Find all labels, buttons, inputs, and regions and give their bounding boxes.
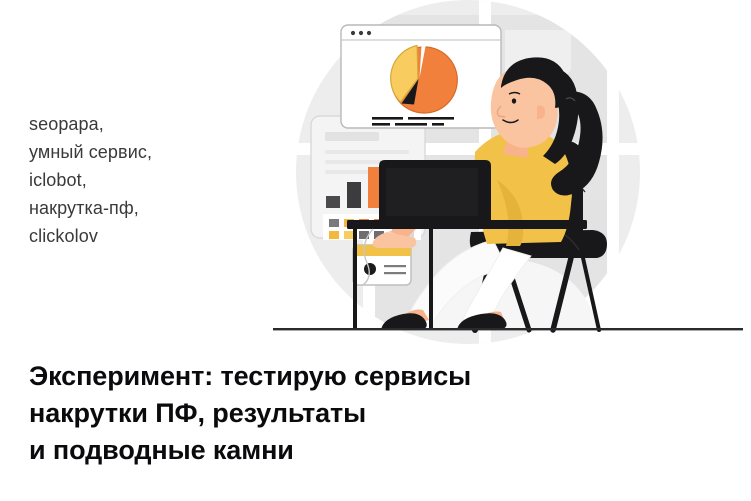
keyword-line: clickolov xyxy=(29,222,259,250)
caption-line xyxy=(372,123,390,126)
caption-line xyxy=(372,117,403,120)
keyword-line: умный сервис, xyxy=(29,138,259,166)
desk-top xyxy=(347,220,587,229)
headline-line: Эксперимент: тестирую сервисы xyxy=(29,358,589,395)
desk-leg xyxy=(353,229,357,330)
caption-line xyxy=(408,117,454,120)
report-text-line xyxy=(325,150,409,154)
credit-card-graphic xyxy=(353,245,411,285)
keyword-line: накрутка-пф, xyxy=(29,194,259,222)
keyword-line: seopapa, xyxy=(29,110,259,138)
browser-dot-icon xyxy=(367,31,371,35)
card-chip-icon xyxy=(364,263,376,275)
article-headline: Эксперимент: тестирую сервисы накрутки П… xyxy=(29,358,589,469)
woman-at-desk-analytics-illustration xyxy=(253,0,751,350)
window-mullion xyxy=(607,0,619,344)
pie-chart xyxy=(391,46,458,113)
caption-line xyxy=(432,123,444,126)
bar xyxy=(326,196,340,208)
desk-leg xyxy=(429,229,433,330)
headline-line: накрутки ПФ, результаты xyxy=(29,395,589,432)
report-title-line xyxy=(325,132,379,141)
card-line xyxy=(384,265,406,267)
browser-dot-icon xyxy=(351,31,355,35)
card-line xyxy=(384,272,406,274)
swatch xyxy=(344,231,354,239)
keyword-line: iclobot, xyxy=(29,166,259,194)
eye xyxy=(512,98,516,103)
swatch xyxy=(329,231,339,239)
swatch xyxy=(329,219,339,227)
illustration-canvas xyxy=(253,0,751,350)
service-keyword-list: seopapa, умный сервис, iclobot, накрутка… xyxy=(29,110,259,250)
bar xyxy=(347,182,361,208)
laptop-screen-display xyxy=(386,168,478,216)
browser-dot-icon xyxy=(359,31,363,35)
caption-line xyxy=(395,123,427,126)
browser-window-mockup xyxy=(341,25,501,128)
headline-line: и подводные камни xyxy=(29,432,589,469)
floor-line xyxy=(273,328,743,330)
